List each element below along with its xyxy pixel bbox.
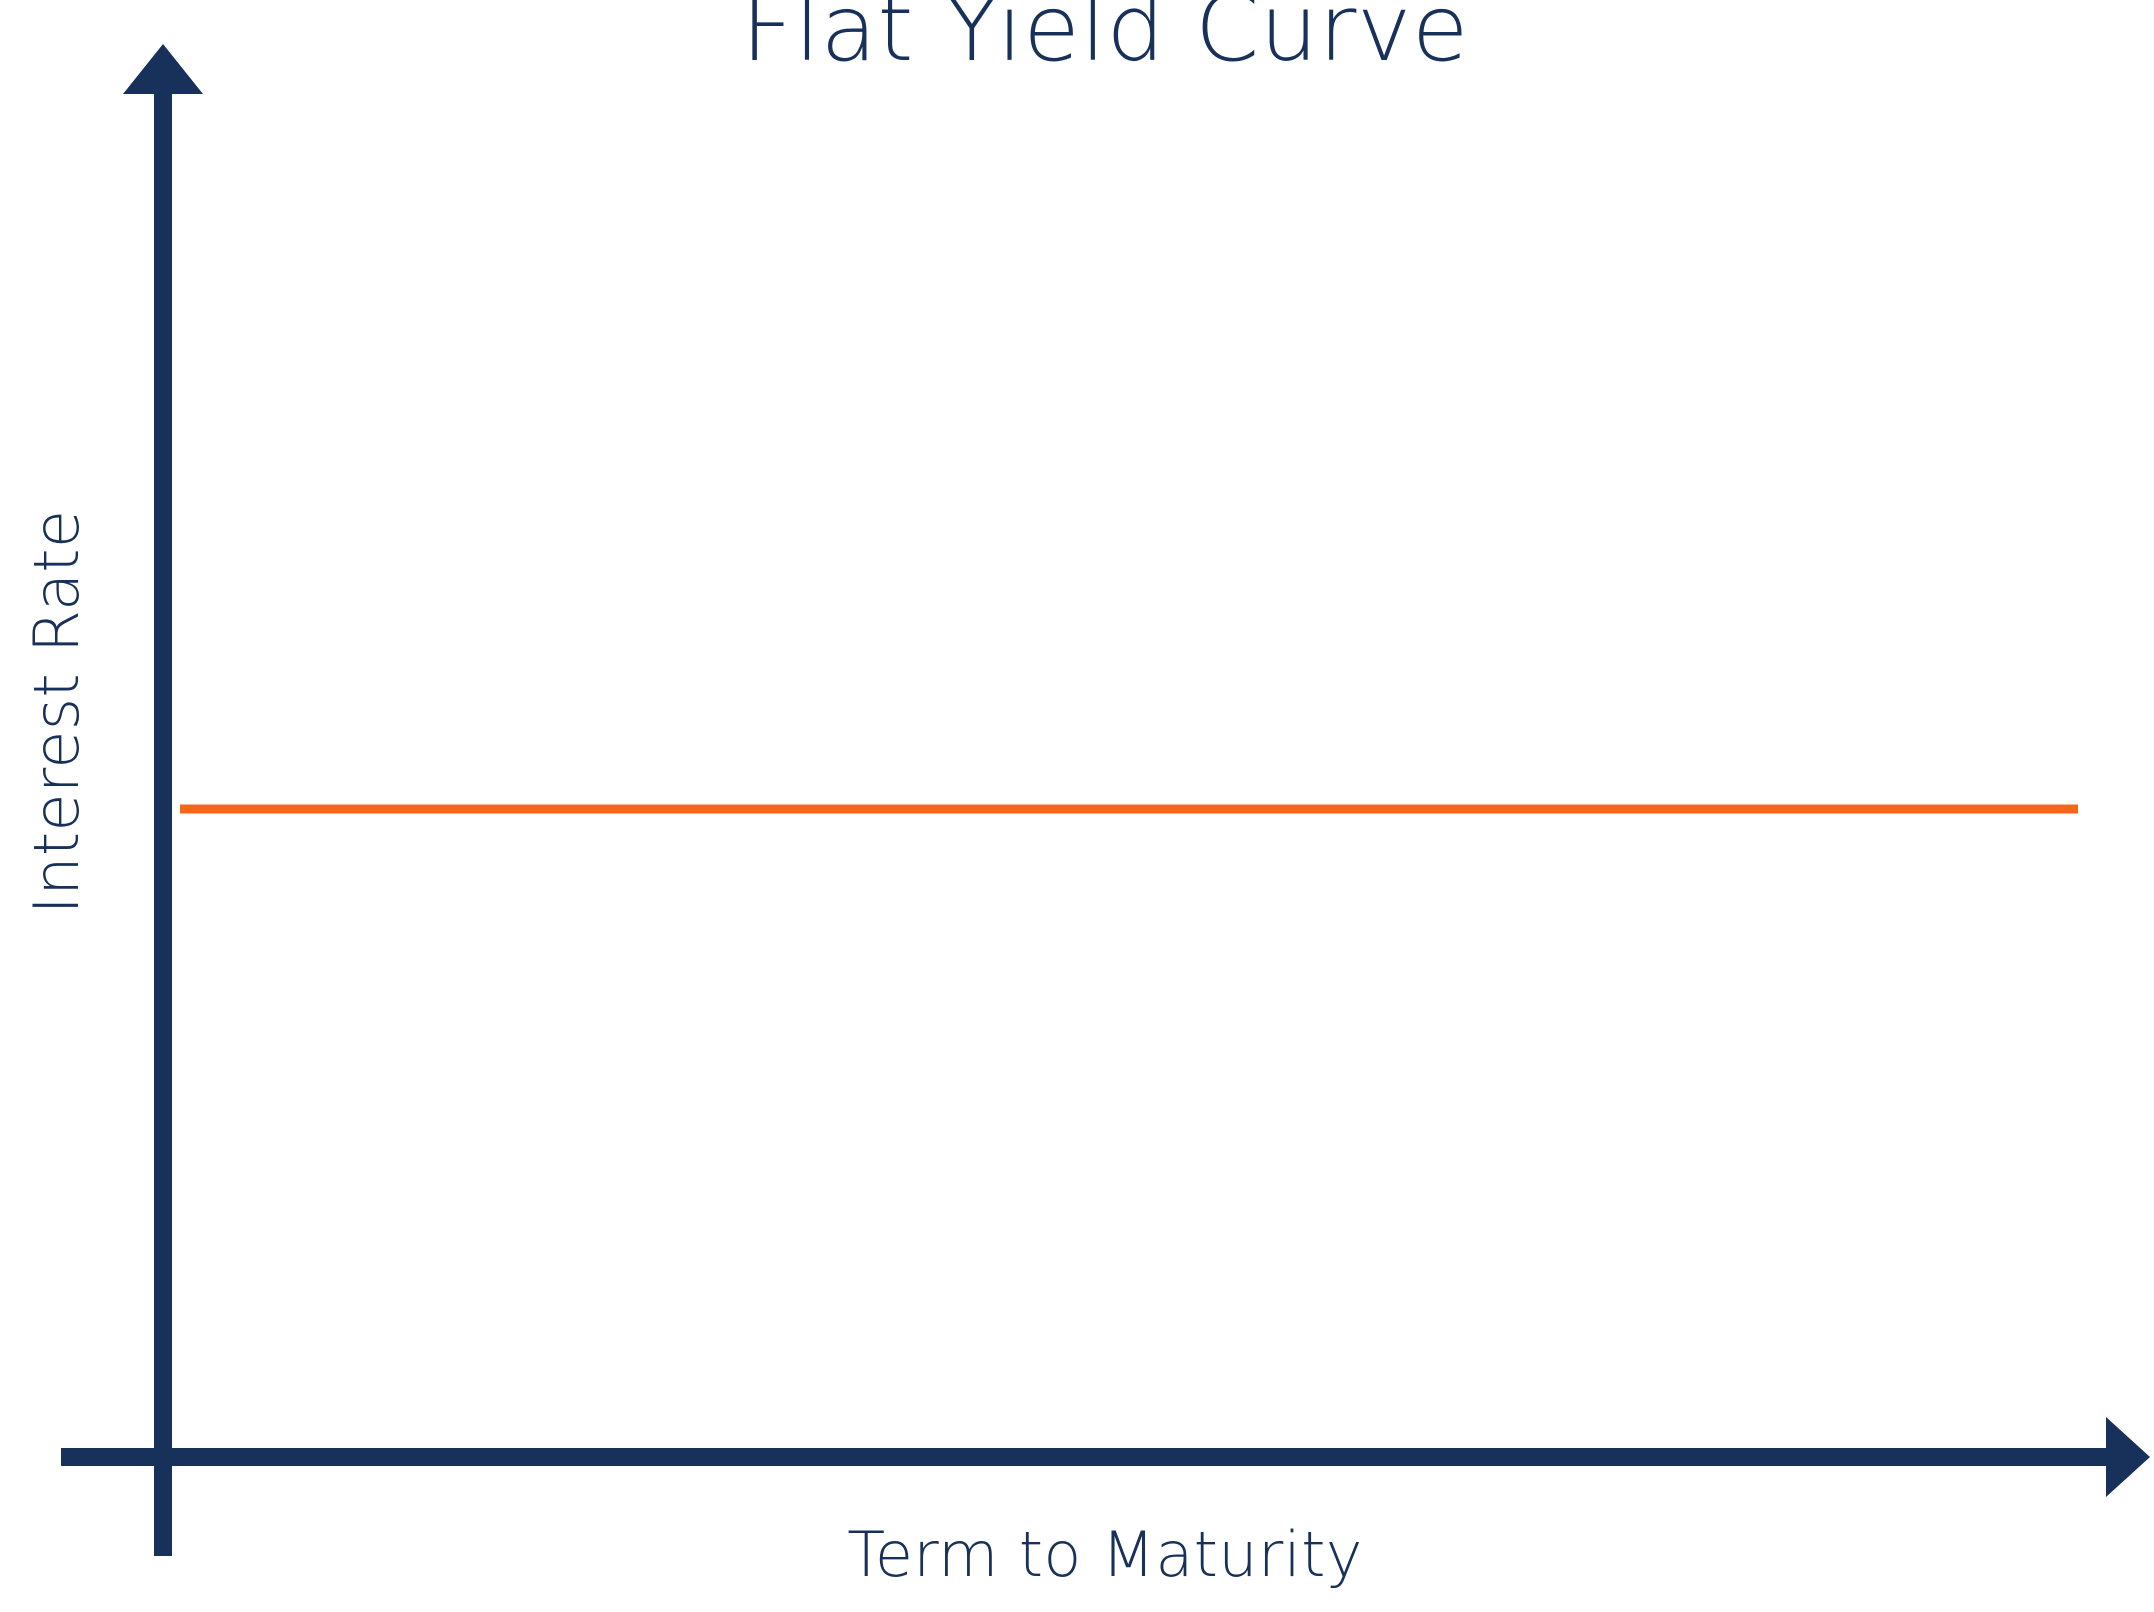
flat-yield-curve-chart: Flat Yield Curve Interest Rate Term to M… [0,0,2154,1612]
chart-plot-area [0,0,2154,1612]
x-axis-arrowhead [2106,1417,2150,1497]
y-axis-arrowhead [123,44,203,94]
